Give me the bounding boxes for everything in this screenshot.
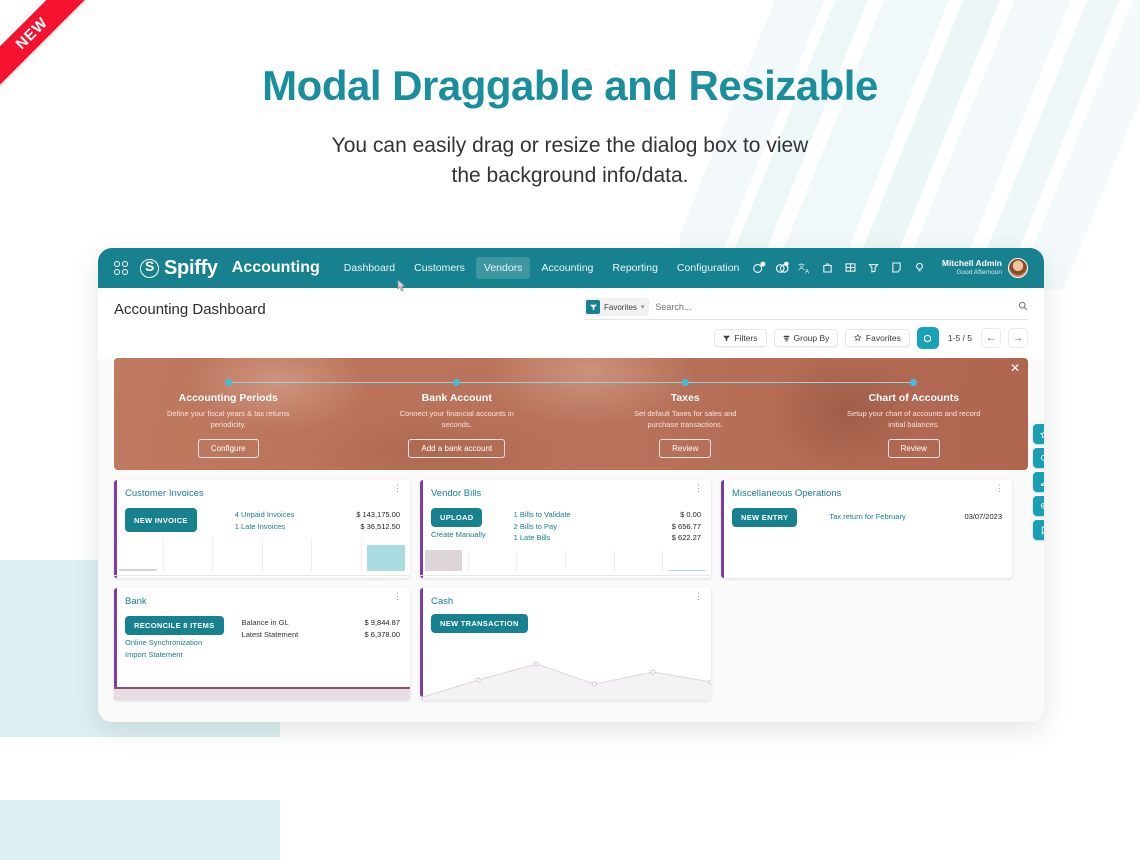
card-stats-labels: 1 Bills to Validate 2 Bills to Pay 1 Lat… (514, 509, 571, 544)
amount-late-bills: $ 622.27 (672, 532, 701, 544)
user-greeting: Good Afternoon (942, 269, 1002, 276)
amount-late-invoices: $ 36,512.50 (356, 521, 400, 533)
bar-col (566, 550, 615, 571)
card-body: Customer Invoices NEW INVOICE 4 Unpaid I… (114, 480, 410, 532)
onboarding-steps: Accounting Periods Define your fiscal ye… (114, 358, 1028, 470)
step-action-configure[interactable]: Configure (198, 439, 259, 458)
step-dot (682, 379, 689, 386)
bar-col (663, 550, 711, 571)
card-title: Cash (431, 596, 701, 607)
brand-name: Spiffy (164, 257, 218, 280)
amount-unpaid-invoices: $ 143,175.00 (356, 509, 400, 521)
card-title: Miscellaneous Operations (732, 488, 1002, 499)
onboarding-step-chart-of-accounts: Chart of Accounts Setup your chart of ac… (800, 358, 1029, 470)
svg-text:A: A (805, 268, 810, 275)
search-icon[interactable] (1018, 298, 1028, 316)
expand-tool-icon[interactable] (1033, 472, 1044, 492)
page-subtitle: You can easily drag or resize the dialog… (0, 131, 1140, 191)
bar-col (263, 538, 313, 571)
grid-apps-icon[interactable] (114, 260, 130, 276)
bar-col (164, 538, 214, 571)
star-tool-icon[interactable] (1033, 424, 1044, 444)
onboarding-step-bank-account: Bank Account Connect your financial acco… (343, 358, 572, 470)
step-dot (225, 379, 232, 386)
step-description: Setup your chart of accounts and record … (846, 408, 981, 431)
bar-col (312, 538, 362, 571)
control-bar-top-row: Accounting Dashboard Favorites ▾ (114, 298, 1028, 320)
svg-text:文: 文 (798, 262, 805, 271)
card-actions: RECONCILE 8 ITEMS Online Synchronization… (125, 609, 224, 659)
stat-balance-in-gl: Balance in GL (242, 617, 299, 629)
search-area: Favorites ▾ (584, 298, 1028, 320)
card-title: Vendor Bills (431, 488, 701, 499)
x-label: 5-11 Feb (469, 575, 518, 578)
x-label: 19-25 Feb (262, 575, 311, 578)
control-bar-actions: Filters Group By Favorites 1-5 / 5 ← → (114, 320, 1028, 358)
step-title: Accounting Periods (114, 392, 343, 404)
main-menu: Dashboard Customers Vendors Accounting R… (336, 257, 748, 279)
avatar[interactable] (1008, 258, 1028, 278)
stat-bills-to-validate[interactable]: 1 Bills to Validate (514, 509, 571, 521)
background-bottom-band (0, 737, 1140, 800)
kebab-menu-icon[interactable]: ⋮ (694, 594, 704, 599)
current-app-name: Accounting (232, 259, 320, 277)
card-bank[interactable]: ⋮ Bank RECONCILE 8 ITEMS Online Synchron… (114, 588, 410, 700)
card-content-row: UPLOAD Create Manually 1 Bills to Valida… (431, 501, 701, 544)
chart-x-labels: Due 5-11 Feb This Week 19-25 Feb 26 Feb-… (420, 575, 711, 578)
app-window: Spiffy Accounting Dashboard Customers Ve… (98, 248, 1044, 722)
card-body: Cash NEW TRANSACTION (420, 588, 711, 633)
search-tool-icon[interactable] (1033, 448, 1044, 468)
step-description: Define your fiscal years & tax returns p… (161, 408, 296, 431)
card-stats-amounts: $ 9,844.87 $ 6,378.00 (365, 617, 400, 659)
zoom-tool-icon[interactable] (1033, 496, 1044, 516)
card-content-row: NEW INVOICE 4 Unpaid Invoices 1 Late Inv… (125, 501, 400, 532)
stat-unpaid-invoices[interactable]: 4 Unpaid Invoices (235, 509, 295, 521)
chat-bubble-badge-icon[interactable] (752, 261, 766, 275)
step-connector-line (228, 382, 342, 383)
amount-balance-in-gl: $ 9,844.87 (365, 617, 400, 629)
chart-line (114, 687, 410, 689)
card-content-row: NEW ENTRY Tax return for February 03/07/… (732, 501, 1002, 527)
card-stats-amounts: $ 0.00 $ 656.77 $ 622.27 (672, 509, 701, 544)
new-entry-button[interactable]: NEW ENTRY (732, 508, 797, 527)
search-facet-label: Favorites (604, 303, 637, 312)
amount-bills-to-pay: $ 656.77 (672, 521, 701, 533)
favorites-button-label: Favorites (866, 333, 901, 343)
new-ribbon: NEW (0, 0, 110, 110)
filters-button[interactable]: Filters (714, 329, 766, 347)
menu-item-vendors[interactable]: Vendors (476, 257, 531, 279)
shopping-bag-icon[interactable] (821, 261, 835, 275)
card-stats-amounts: $ 143,175.00 $ 36,512.50 (356, 509, 400, 532)
amount-latest-statement: $ 6,378.00 (365, 629, 400, 641)
translate-icon[interactable]: 文 A (798, 261, 812, 275)
chart-area-fill (114, 687, 410, 700)
lightbulb-icon[interactable] (913, 261, 927, 275)
x-label: This Week (517, 575, 566, 578)
user-name: Mitchell Admin (942, 259, 1002, 269)
new-transaction-button[interactable]: NEW TRANSACTION (431, 614, 528, 633)
dashboard-kanban: ⋮ Customer Invoices NEW INVOICE 4 Unpaid… (98, 470, 1044, 700)
step-connector-line (800, 382, 914, 383)
bar-col (469, 550, 518, 571)
x-label: Due (114, 575, 163, 578)
step-action-review-coa[interactable]: Review (888, 439, 940, 458)
card-vendor-bills[interactable]: ⋮ Vendor Bills UPLOAD Create Manually 1 … (420, 480, 711, 578)
bar-col (517, 550, 566, 571)
amount-bills-to-validate: $ 0.00 (672, 509, 701, 521)
vendor-bills-bar-chart: Due 5-11 Feb This Week 19-25 Feb 26 Feb-… (420, 550, 711, 578)
x-label: 26 Feb-4 Mar (614, 575, 663, 578)
x-label: Not Due (361, 575, 410, 578)
new-invoice-button[interactable]: NEW INVOICE (125, 508, 197, 532)
mouse-cursor-icon (394, 278, 408, 296)
bank-area-chart (114, 683, 410, 700)
card-body: Vendor Bills UPLOAD Create Manually 1 Bi… (420, 480, 711, 544)
floating-tool-strip (1033, 424, 1044, 540)
group-by-button[interactable]: Group By (774, 329, 839, 347)
bar-col (362, 538, 411, 571)
menu-item-reporting[interactable]: Reporting (604, 257, 666, 279)
kebab-menu-icon[interactable]: ⋮ (995, 486, 1005, 491)
filter-funnel-icon (586, 300, 600, 314)
signal-tower-icon[interactable] (867, 261, 881, 275)
cash-line-chart (420, 654, 711, 700)
card-cash[interactable]: ⋮ Cash NEW TRANSACTION (420, 588, 711, 700)
card-body: Miscellaneous Operations NEW ENTRY Tax r… (721, 480, 1012, 527)
group-by-button-label: Group By (794, 333, 830, 343)
kebab-menu-icon[interactable]: ⋮ (694, 486, 704, 491)
kanban-view-button[interactable] (917, 327, 939, 349)
card-stats-labels: Balance in GL Latest Statement (242, 617, 299, 659)
group-by-icon (783, 335, 790, 342)
stat-latest-statement: Latest Statement (242, 629, 299, 641)
reconcile-items-button[interactable]: RECONCILE 8 ITEMS (125, 616, 224, 635)
card-misc-operations[interactable]: ⋮ Miscellaneous Operations NEW ENTRY Tax… (721, 480, 1012, 578)
search-facet-favorites[interactable]: Favorites ▾ (584, 298, 649, 316)
import-statement-link[interactable]: Import Statement (125, 650, 224, 659)
spiffy-logo-mark (140, 259, 159, 278)
x-label: 26 Feb-4 Mar (311, 575, 360, 578)
misc-entry-label[interactable]: Tax return for February (829, 511, 905, 523)
menu-item-configuration[interactable]: Configuration (669, 257, 747, 279)
pager-next-button[interactable]: → (1008, 328, 1028, 348)
navbar-right-tools: 文 A (752, 258, 1032, 278)
card-customer-invoices[interactable]: ⋮ Customer Invoices NEW INVOICE 4 Unpaid… (114, 480, 410, 578)
onboarding-banner: ✕ Accounting Periods Define your fiscal … (114, 358, 1028, 470)
card-stats-labels: Tax return for February (829, 511, 905, 527)
step-description: Connect your financial accounts in secon… (389, 408, 524, 431)
card-title: Bank (125, 596, 400, 607)
onboarding-step-accounting-periods: Accounting Periods Define your fiscal ye… (114, 358, 343, 470)
page-subtitle-line2: the background info/data. (0, 161, 1140, 191)
banner-close-icon[interactable]: ✕ (1010, 362, 1020, 374)
stat-late-invoices[interactable]: 1 Late Invoices (235, 521, 295, 533)
create-manually-link[interactable]: Create Manually (431, 530, 486, 539)
onboarding-step-taxes: Taxes Set default Taxes for sales and pu… (571, 358, 800, 470)
x-label: This Week (213, 575, 262, 578)
user-info: Mitchell Admin Good Afternoon (942, 259, 1002, 276)
brand-logo[interactable]: Spiffy (140, 257, 218, 280)
menu-item-customers[interactable]: Customers (406, 257, 473, 279)
customer-invoices-bar-chart: Due 5-11 Feb This Week 19-25 Feb 26 Feb-… (114, 538, 410, 578)
bar-col (114, 538, 164, 571)
x-label: Due (420, 575, 469, 578)
page-subtitle-line1: You can easily drag or resize the dialog… (0, 131, 1140, 161)
card-body: Bank RECONCILE 8 ITEMS Online Synchroniz… (114, 588, 410, 659)
kanban-view-icon (922, 333, 933, 344)
step-dot (910, 379, 917, 386)
card-content-row: RECONCILE 8 ITEMS Online Synchronization… (125, 609, 400, 659)
step-description: Set default Taxes for sales and purchase… (618, 408, 753, 431)
note-icon[interactable] (890, 261, 904, 275)
favorites-button[interactable]: Favorites (845, 329, 909, 347)
new-ribbon-label: NEW (0, 0, 98, 100)
upload-button[interactable]: UPLOAD (431, 508, 482, 527)
step-dot (453, 379, 460, 386)
stat-late-bills[interactable]: 1 Late Bills (514, 532, 571, 544)
card-title: Customer Invoices (125, 488, 400, 499)
messages-badge-icon[interactable] (775, 261, 789, 275)
kebab-menu-icon[interactable]: ⋮ (393, 486, 403, 491)
x-label: Not Due (663, 575, 712, 578)
step-title: Taxes (571, 392, 800, 404)
pager-prev-button[interactable]: ← (981, 328, 1001, 348)
chart-x-labels: Due 5-11 Feb This Week 19-25 Feb 26 Feb-… (114, 575, 410, 578)
grid-view-icon[interactable] (844, 261, 858, 275)
stat-bills-to-pay[interactable]: 2 Bills to Pay (514, 521, 571, 533)
online-synchronization-link[interactable]: Online Synchronization (125, 638, 224, 647)
bookmark-tool-icon[interactable] (1033, 520, 1044, 540)
card-stats-labels: 4 Unpaid Invoices 1 Late Invoices (235, 509, 295, 532)
bar-col (213, 538, 263, 571)
filters-button-label: Filters (734, 333, 757, 343)
card-stats-amounts: 03/07/2023 (964, 511, 1002, 527)
x-label: 5-11 Feb (163, 575, 212, 578)
x-label: 19-25 Feb (566, 575, 615, 578)
search-input[interactable] (655, 302, 1018, 312)
menu-item-accounting[interactable]: Accounting (533, 257, 601, 279)
menu-item-dashboard[interactable]: Dashboard (336, 257, 403, 279)
user-menu[interactable]: Mitchell Admin Good Afternoon (942, 258, 1028, 278)
page-title: Modal Draggable and Resizable (0, 62, 1140, 110)
chart-bars (114, 538, 410, 571)
step-title: Chart of Accounts (800, 392, 1029, 404)
pager-count: 1-5 / 5 (948, 333, 972, 343)
star-icon (854, 334, 862, 342)
step-action-review-taxes[interactable]: Review (659, 439, 711, 458)
bar-col (420, 550, 469, 571)
dashboard-title: Accounting Dashboard (114, 301, 266, 318)
filter-icon (723, 335, 730, 342)
step-action-add-bank-account[interactable]: Add a bank account (408, 439, 505, 458)
chart-bars (420, 550, 711, 571)
card-actions: UPLOAD Create Manually (431, 501, 486, 544)
chevron-down-icon[interactable]: ▾ (641, 303, 645, 311)
misc-entry-date: 03/07/2023 (964, 511, 1002, 523)
control-bar: Accounting Dashboard Favorites ▾ (98, 288, 1044, 358)
bar-col (615, 550, 664, 571)
kebab-menu-icon[interactable]: ⋮ (393, 594, 403, 599)
app-navbar: Spiffy Accounting Dashboard Customers Ve… (98, 248, 1044, 288)
step-title: Bank Account (343, 392, 572, 404)
